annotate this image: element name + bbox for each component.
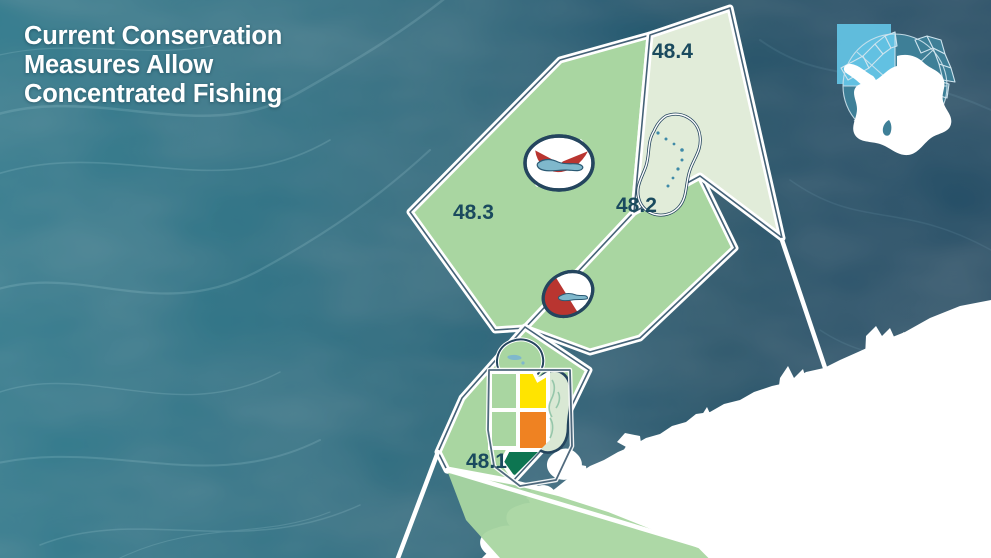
locator-inset-map[interactable] [823, 12, 969, 158]
infographic-map-canvas: 48.3 48.2 48.4 48.1 Current Conservation… [0, 0, 991, 558]
zone-label-48-3: 48.3 [453, 201, 494, 224]
yellow-fishing-block [518, 372, 548, 410]
block-left-upper [490, 372, 518, 410]
block-left-lower [490, 410, 518, 448]
zone-label-48-4: 48.4 [652, 40, 693, 63]
zone-label-48-1: 48.1 [466, 450, 507, 473]
zone-label-48-2: 48.2 [616, 194, 657, 217]
orange-fishing-block [518, 410, 548, 450]
